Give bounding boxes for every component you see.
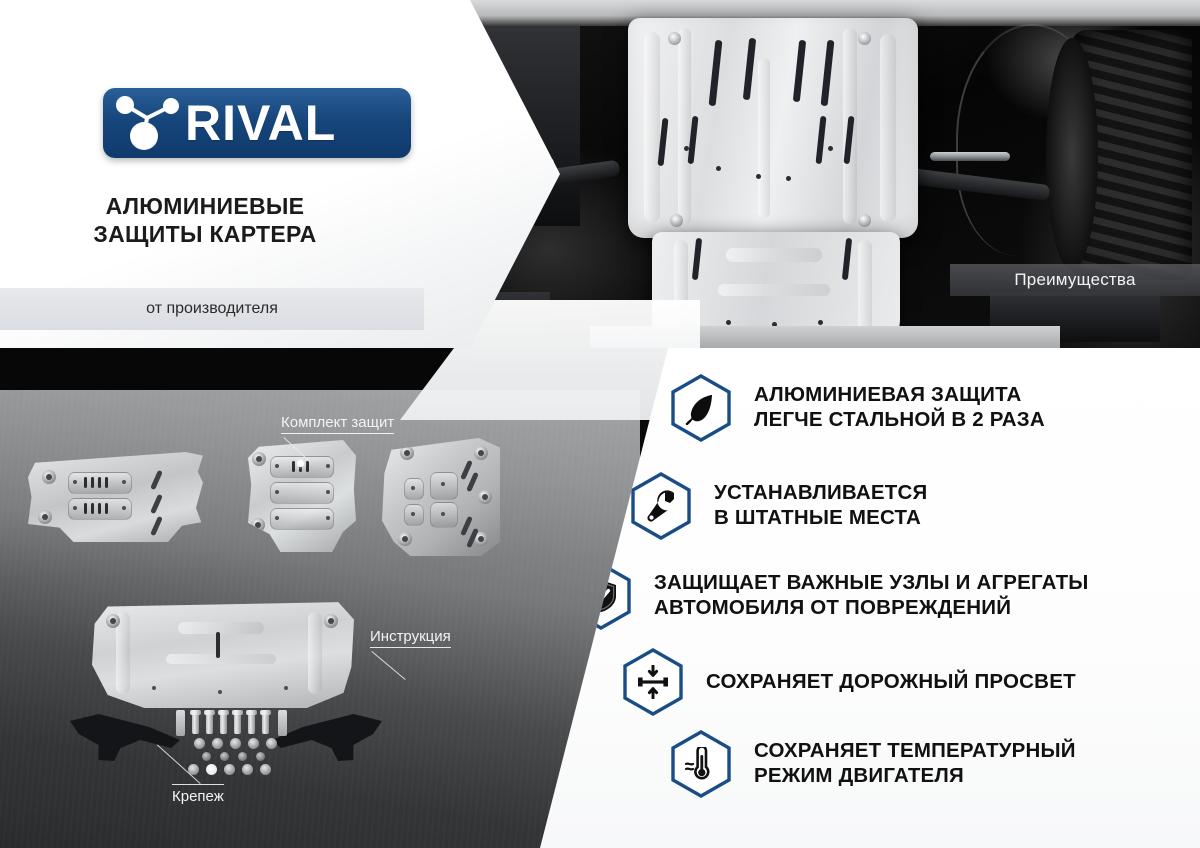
annotation-instruction: Инструкция	[370, 628, 451, 648]
feature-text: СОХРАНЯЕТ ТЕМПЕРАТУРНЫЙ РЕЖИМ ДВИГАТЕЛЯ	[754, 739, 1076, 788]
annotation-overline	[172, 784, 224, 785]
molecule-icon	[111, 92, 183, 154]
product-fasteners	[176, 708, 298, 776]
leaf-icon	[670, 374, 732, 442]
annotation-fasteners: Крепеж	[172, 784, 224, 805]
wrench-glyph	[644, 489, 678, 523]
annotation-plates-kit: Комплект защит	[281, 414, 394, 434]
annotation-fasteners-label: Крепеж	[172, 788, 224, 805]
product-skid-plate-c	[382, 438, 500, 556]
feature-line2: РЕЖИМ ДВИГАТЕЛЯ	[754, 764, 1076, 789]
thermometer-icon	[670, 730, 732, 798]
page-title-line2: ЗАЩИТЫ КАРТЕРА	[0, 220, 410, 248]
feature-item-lightweight[interactable]: АЛЮМИНИЕВАЯ ЗАЩИТА ЛЕГЧЕ СТАЛЬНОЙ В 2 РА…	[670, 374, 1045, 442]
tab-advantages-label: Преимущества	[1014, 270, 1135, 290]
feature-line2: ЛЕГЧЕ СТАЛЬНОЙ В 2 РАЗА	[754, 408, 1045, 433]
feature-line1: ЗАЩИЩАЕТ ВАЖНЫЕ УЗЛЫ И АГРЕГАТЫ	[654, 571, 1089, 596]
feature-item-fitment[interactable]: УСТАНАВЛИВАЕТСЯ В ШТАТНЫЕ МЕСТА	[630, 472, 927, 540]
clearance-glyph	[636, 665, 670, 699]
annotation-instruction-label: Инструкция	[370, 628, 451, 645]
ground-clearance-icon	[622, 648, 684, 716]
annotation-underline	[370, 647, 451, 648]
product-skid-plate-d	[92, 600, 354, 708]
header-subtitle-bar: от производителя	[0, 288, 424, 330]
feature-item-protection[interactable]: ЗАЩИЩАЕТ ВАЖНЫЕ УЗЛЫ И АГРЕГАТЫ АВТОМОБИ…	[570, 562, 1089, 630]
brand-logo[interactable]: RIVAL	[103, 88, 411, 158]
photo-tie-rod-right	[930, 152, 1010, 161]
tab-advantages[interactable]: Преимущества	[950, 264, 1200, 296]
feature-text: ЗАЩИЩАЕТ ВАЖНЫЕ УЗЛЫ И АГРЕГАТЫ АВТОМОБИ…	[654, 571, 1089, 620]
promo-banner: Преимущества	[0, 0, 1200, 848]
feature-line1: СОХРАНЯЕТ ТЕМПЕРАТУРНЫЙ	[754, 739, 1076, 764]
leaf-glyph	[684, 391, 718, 425]
feature-line1: УСТАНАВЛИВАЕТСЯ	[714, 481, 927, 506]
header-subtitle: от производителя	[146, 300, 278, 318]
feature-text: СОХРАНЯЕТ ДОРОЖНЫЙ ПРОСВЕТ	[706, 670, 1076, 695]
annotation-underline	[281, 433, 394, 434]
photo-skid-plate-front	[628, 18, 918, 238]
feature-item-clearance[interactable]: СОХРАНЯЕТ ДОРОЖНЫЙ ПРОСВЕТ	[622, 648, 1076, 716]
feature-text: УСТАНАВЛИВАЕТСЯ В ШТАТНЫЕ МЕСТА	[714, 481, 927, 530]
photo-tire	[1072, 30, 1192, 280]
header-panel: RIVAL АЛЮМИНИЕВЫЕ ЗАЩИТЫ КАРТЕРА от прои…	[0, 0, 560, 348]
feature-line1: АЛЮМИНИЕВАЯ ЗАЩИТА	[754, 383, 1045, 408]
annotation-plates-kit-dot	[297, 460, 304, 467]
feature-line2: АВТОМОБИЛЯ ОТ ПОВРЕЖДЕНИЙ	[654, 596, 1089, 621]
feature-text: АЛЮМИНИЕВАЯ ЗАЩИТА ЛЕГЧЕ СТАЛЬНОЙ В 2 РА…	[754, 383, 1045, 432]
feature-line1: СОХРАНЯЕТ ДОРОЖНЫЙ ПРОСВЕТ	[706, 670, 1076, 695]
page-title-line1: АЛЮМИНИЕВЫЕ	[0, 192, 410, 220]
wrench-icon	[630, 472, 692, 540]
feature-item-temperature[interactable]: СОХРАНЯЕТ ТЕМПЕРАТУРНЫЙ РЕЖИМ ДВИГАТЕЛЯ	[670, 730, 1076, 798]
thermometer-glyph	[684, 747, 718, 781]
product-showcase-panel	[0, 390, 640, 848]
annotation-plates-kit-label: Комплект защит	[281, 414, 394, 431]
brand-name: RIVAL	[185, 98, 336, 148]
page-title: АЛЮМИНИЕВЫЕ ЗАЩИТЫ КАРТЕРА	[0, 192, 410, 248]
feature-line2: В ШТАТНЫЕ МЕСТА	[714, 506, 927, 531]
